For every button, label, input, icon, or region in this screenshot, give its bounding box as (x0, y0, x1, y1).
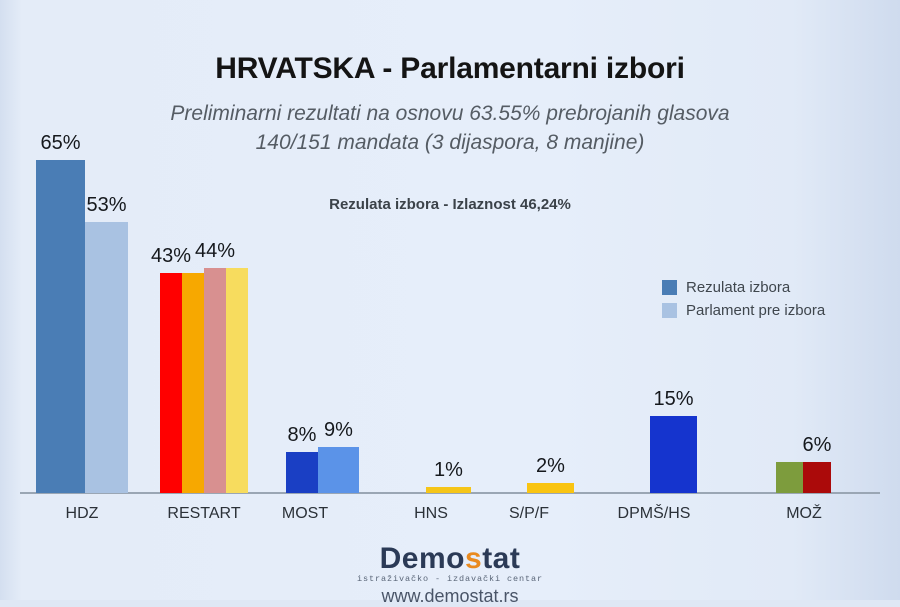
bar[interactable] (226, 268, 248, 493)
logo-word-part-1: Demo (380, 542, 465, 575)
bar-value-label: 2% (536, 455, 565, 478)
bar[interactable]: 44% (204, 268, 226, 493)
bar-value-label: 1% (434, 459, 463, 482)
logo-website-url: www.demostat.rs (0, 586, 900, 607)
logo-tagline: istraživačko - izdavački centar (0, 574, 900, 585)
bar[interactable]: 43% (160, 273, 182, 493)
bar[interactable]: 8% (286, 452, 318, 493)
bar-value-label: 6% (803, 434, 832, 457)
bar-group: 1% (426, 153, 471, 493)
x-axis-label: MOŽ (744, 505, 864, 523)
x-axis-label: DPMŠ/HS (594, 505, 714, 523)
logo-wordmark: Demostat (0, 544, 900, 574)
bar[interactable] (182, 273, 204, 493)
x-axis-label: MOST (245, 505, 365, 523)
bar-value-label: 44% (195, 240, 235, 263)
plot-area: 65%53%HDZ43%44%RESTART8%9%MOST1%HNS2%S/P… (0, 0, 900, 600)
bar[interactable]: 53% (85, 222, 128, 493)
chart-canvas: HRVATSKA - Parlamentarni izbori Prelimin… (0, 0, 900, 600)
x-axis-label: HDZ (22, 505, 142, 523)
bar-group: 65%53% (36, 153, 128, 493)
bar-group: 43%44% (160, 153, 248, 493)
bar-value-label: 9% (324, 419, 353, 442)
bar[interactable]: 15% (650, 416, 697, 493)
bar[interactable]: 9% (318, 447, 359, 493)
x-axis-label: S/P/F (469, 505, 589, 523)
bar-value-label: 65% (40, 132, 80, 155)
bar[interactable]: 65% (36, 160, 85, 493)
bar-value-label: 43% (151, 245, 191, 268)
bar-value-label: 8% (288, 424, 317, 447)
bar-value-label: 53% (86, 194, 126, 217)
bar[interactable]: 1% (426, 487, 471, 493)
bar[interactable] (776, 462, 803, 493)
bar-group: 8%9% (286, 153, 359, 493)
demostat-logo: Demostat istraživačko - izdavački centar… (0, 544, 900, 607)
bar-group: 6% (776, 153, 831, 493)
logo-word-part-2: tat (482, 542, 520, 575)
bar-group: 15% (650, 153, 697, 493)
bar[interactable]: 6% (803, 462, 831, 493)
bar-value-label: 15% (653, 388, 693, 411)
bar-group: 2% (527, 153, 574, 493)
bar[interactable]: 2% (527, 483, 574, 493)
logo-word-highlight: s (465, 542, 482, 575)
